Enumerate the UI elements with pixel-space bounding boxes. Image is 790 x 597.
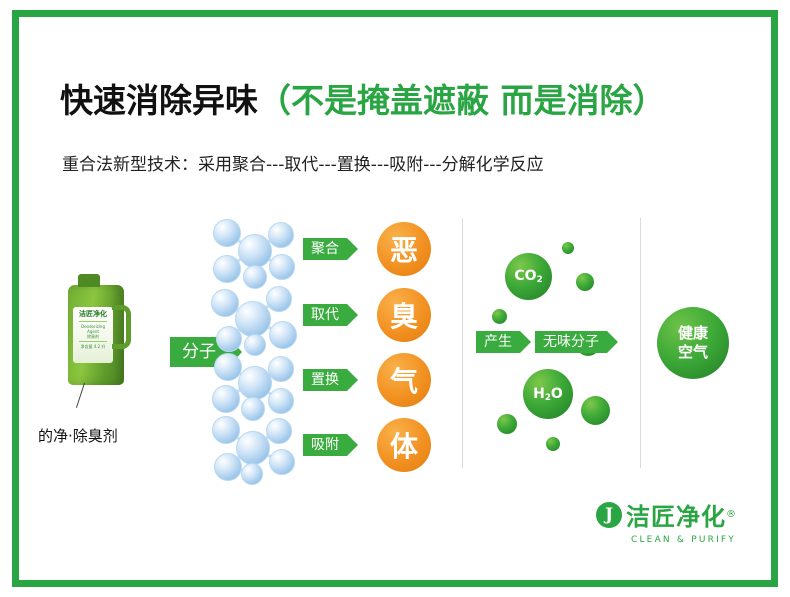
logo-row: J 洁匠净化 ® [596,497,736,532]
bubble-h2o: H2O [523,369,573,419]
result-character-2: 臭 [377,288,431,342]
bottle-label: 洁匠净化 Deodorizing Agent 除臭剂 净含量 4.2 升 [73,307,113,363]
bottle-label-sub-en: Deodorizing Agent [75,324,111,334]
logo-registered-mark: ® [726,509,736,520]
molecule-core-atom [238,234,272,268]
molecule-atom [268,388,294,414]
molecule-core-atom [236,431,270,465]
bubble-co2: CO2 [505,253,552,300]
molecule-atom [269,449,295,475]
subtitle: 重合法新型技术：采用聚合---取代---置换---吸附---分解化学反应 [62,150,742,175]
product-caption: 的净·除臭剂 [38,425,178,446]
molecule-atom [241,463,263,485]
bubble-co2-label: CO2 [514,268,542,285]
step-tag-1: 聚合 [303,238,347,260]
brand-logo: J 洁匠净化 ® CLEAN & PURIFY [596,497,736,545]
molecule-atom [212,416,240,444]
headline-main: 快速消除异味 [60,81,258,120]
bubble-small-1 [562,242,574,254]
molecule-atom [269,254,295,280]
product-bottle: 洁匠净化 Deodorizing Agent 除臭剂 净含量 4.2 升 [62,275,132,395]
healthy-air-line2: 空气 [678,343,708,361]
bottle-label-divider [79,321,107,322]
step-tag-4: 吸附 [303,434,347,456]
bubble-small-3 [492,309,507,324]
molecule-atom [269,321,297,349]
bubble-small-7 [546,437,560,451]
panel-divider-1 [462,218,463,468]
bottle-label-divider-2 [79,341,107,342]
molecule-atom [268,356,294,382]
molecule-atom [243,265,267,289]
logo-name-en: CLEAN & PURIFY [596,535,736,545]
result-healthy-air: 健康空气 [657,307,729,379]
step-tag-3: 置换 [303,369,347,391]
molecule-cluster-4 [218,420,290,478]
result-character-4: 体 [377,418,431,472]
healthy-air-line1: 健康 [678,324,708,342]
molecule-atom [268,222,294,248]
logo-mark-icon: J [596,502,622,528]
molecule-atom [241,397,265,421]
molecule-cluster-1 [218,224,290,282]
step-tag-2: 取代 [303,304,347,326]
tag-produce: 产生 [476,331,520,353]
headline-parenthetical: （不是掩盖遮蔽 而是消除） [258,81,666,120]
bottle-shape: 洁匠净化 Deodorizing Agent 除臭剂 净含量 4.2 升 [68,285,124,385]
molecule-atom [266,418,292,444]
tag-odorless-molecule: 无味分子 [535,331,607,353]
molecule-atom [214,353,242,381]
molecule-atom [216,326,242,352]
bubble-h2o-label: H2O [533,386,563,403]
molecule-atom [213,219,241,247]
panel-divider-2 [640,218,641,468]
molecule-atom [244,334,266,356]
page-title: 快速消除异味（不是掩盖遮蔽 而是消除） [60,74,740,122]
bottle-label-brand: 洁匠净化 [75,310,111,319]
molecule-cluster-3 [218,356,290,414]
logo-name-cn: 洁匠净化 [626,497,726,532]
molecule-atom [212,385,240,413]
molecule-atom [214,453,242,481]
result-character-3: 气 [377,353,431,407]
bottle-label-body: 除臭剂 [75,334,111,339]
bubble-small-5 [497,414,517,434]
result-character-1: 恶 [377,222,431,276]
molecule-atom [266,286,292,312]
molecule-atom [211,289,239,317]
molecule-core-atom [238,366,272,400]
poster-root: 快速消除异味（不是掩盖遮蔽 而是消除） 重合法新型技术：采用聚合---取代---… [0,0,790,597]
molecule-cluster-2 [218,290,290,348]
molecule-atom [213,255,241,283]
molecule-core-atom [235,301,271,337]
bubble-small-2 [576,273,594,291]
bottle-label-volume: 净含量 4.2 升 [75,344,111,349]
bubble-small-6 [581,396,610,425]
